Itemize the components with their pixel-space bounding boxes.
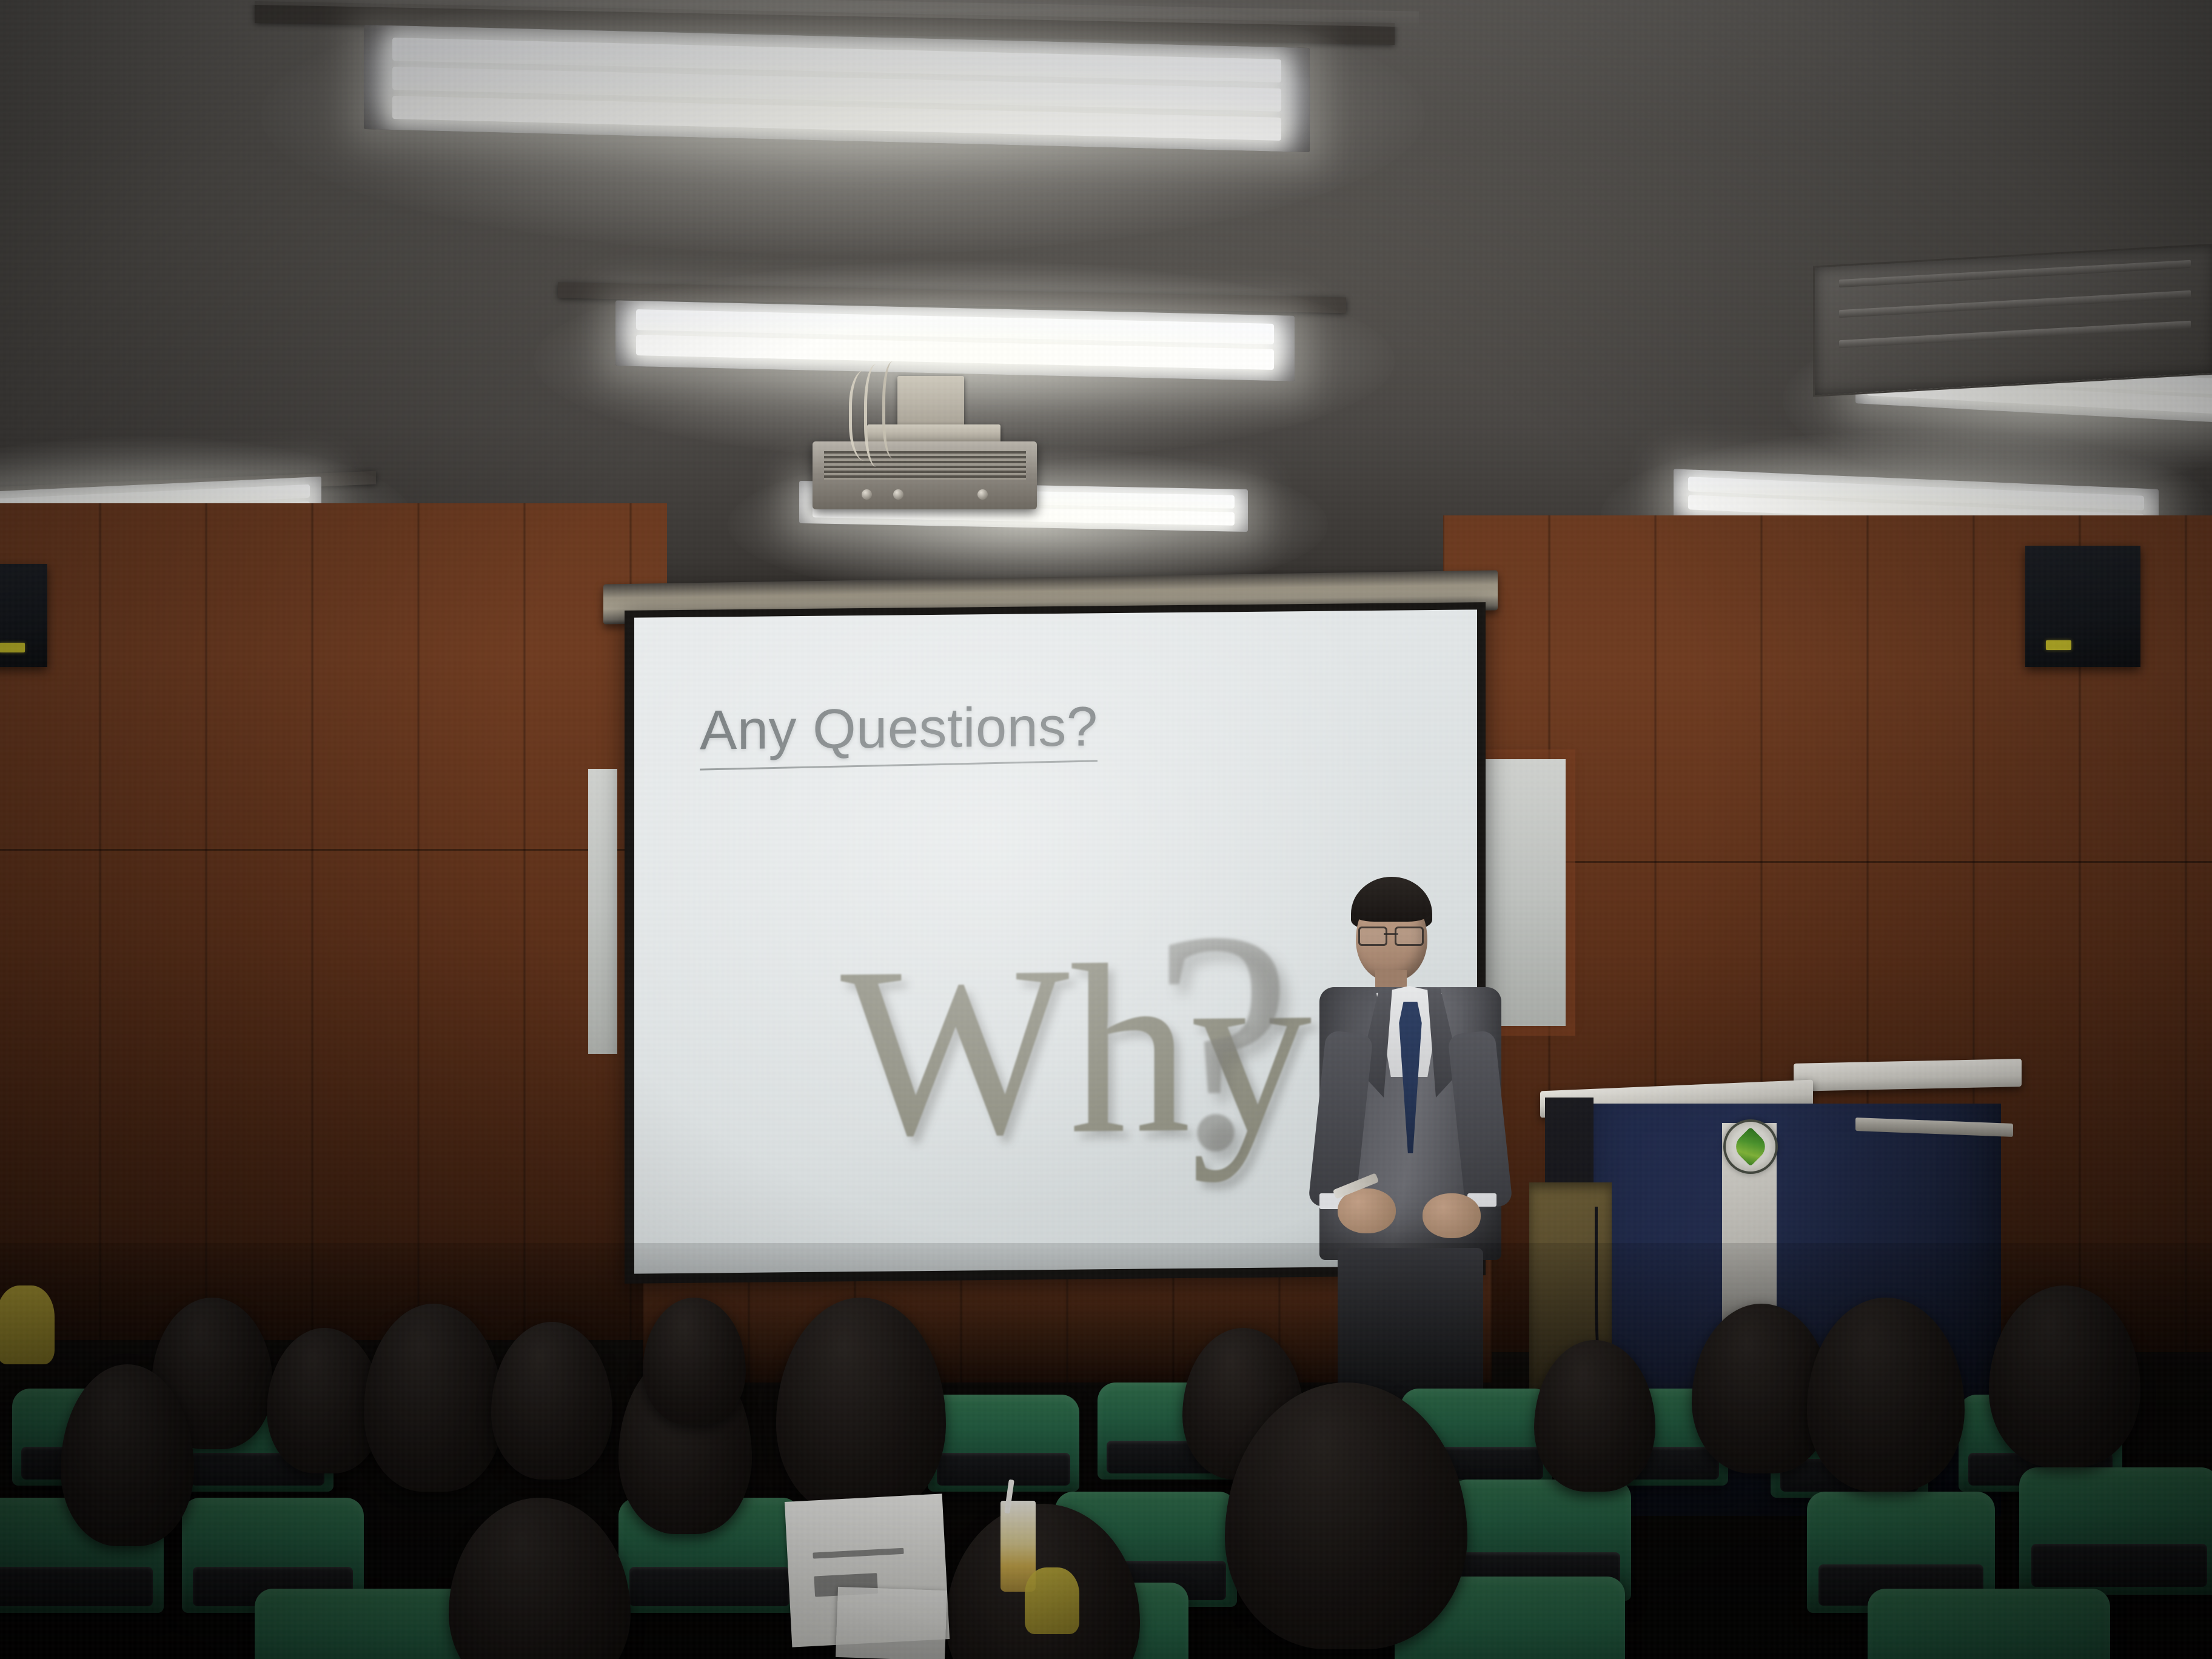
speaker-label xyxy=(2046,640,2071,650)
seat-armrest xyxy=(937,1453,1070,1486)
slide-heading-underline xyxy=(700,760,1098,770)
vent-louver xyxy=(1839,290,2191,318)
projector-vent-grille xyxy=(824,451,1026,480)
slide-heading-text: Any Questions? xyxy=(700,695,1098,761)
list-item xyxy=(1868,1589,2110,1659)
list-item xyxy=(2019,1467,2212,1595)
lecture-hall-scene: Any Questions? Why ? xyxy=(0,0,2212,1659)
seat-armrest xyxy=(2031,1544,2207,1587)
lectern-top-right xyxy=(1794,1059,2022,1091)
projector-cable xyxy=(882,361,908,458)
slide-question-mark: ? xyxy=(1153,883,1293,1199)
ceiling-projector xyxy=(813,441,1037,509)
projector-knob xyxy=(893,489,903,500)
air-conditioning-vent xyxy=(1813,243,2212,397)
yellow-bag xyxy=(1025,1567,1079,1634)
yellow-bag-left xyxy=(0,1285,55,1364)
paper-line xyxy=(813,1548,904,1559)
leaf-icon xyxy=(1731,1127,1771,1167)
wall-panel-left xyxy=(588,769,617,1054)
wall-speaker-right xyxy=(2025,546,2140,667)
lectern-logo xyxy=(1723,1119,1778,1174)
vent-louver xyxy=(1839,260,2191,287)
presenter-hand-right xyxy=(1423,1193,1481,1238)
wall-seam xyxy=(0,849,667,851)
handout-paper-2 xyxy=(836,1587,947,1659)
seat-armrest xyxy=(0,1567,153,1606)
list-item xyxy=(255,1589,473,1659)
slide-heading: Any Questions? xyxy=(700,695,1098,768)
list-item xyxy=(928,1395,1079,1492)
presenter-hand-left xyxy=(1338,1188,1396,1233)
projector-knob xyxy=(862,489,872,500)
wall-speaker-left xyxy=(0,564,47,667)
seat-armrest xyxy=(629,1567,789,1606)
projector-knob xyxy=(977,489,988,500)
vent-louver xyxy=(1839,321,2191,348)
speaker-label xyxy=(0,643,25,652)
wall-left xyxy=(0,503,667,1340)
